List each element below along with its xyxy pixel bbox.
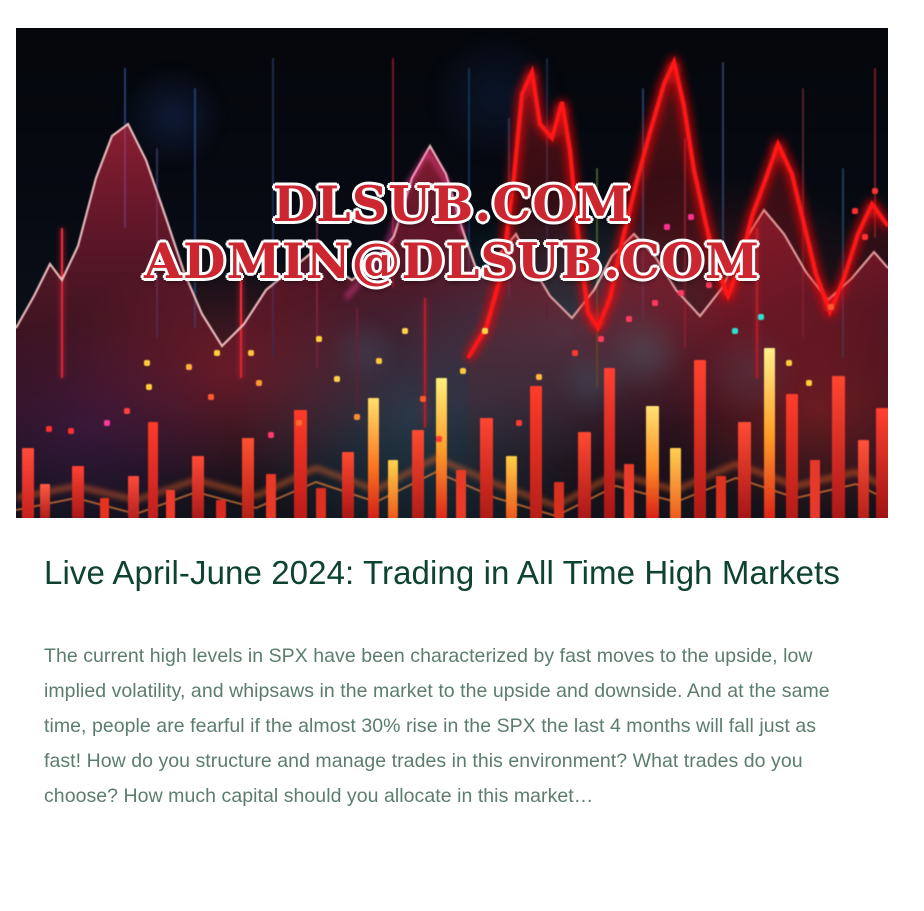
page-title[interactable]: Live April-June 2024: Trading in All Tim…: [44, 548, 858, 597]
article-card: DLSUB.COM ADMIN@DLSUB.COM Live April-Jun…: [0, 0, 924, 911]
hero-artwork: [16, 28, 888, 518]
tick-dots-layer: [16, 28, 888, 518]
hero-image[interactable]: DLSUB.COM ADMIN@DLSUB.COM: [16, 28, 888, 518]
article-excerpt: The current high levels in SPX have been…: [44, 597, 858, 814]
article-body: Live April-June 2024: Trading in All Tim…: [44, 548, 858, 814]
